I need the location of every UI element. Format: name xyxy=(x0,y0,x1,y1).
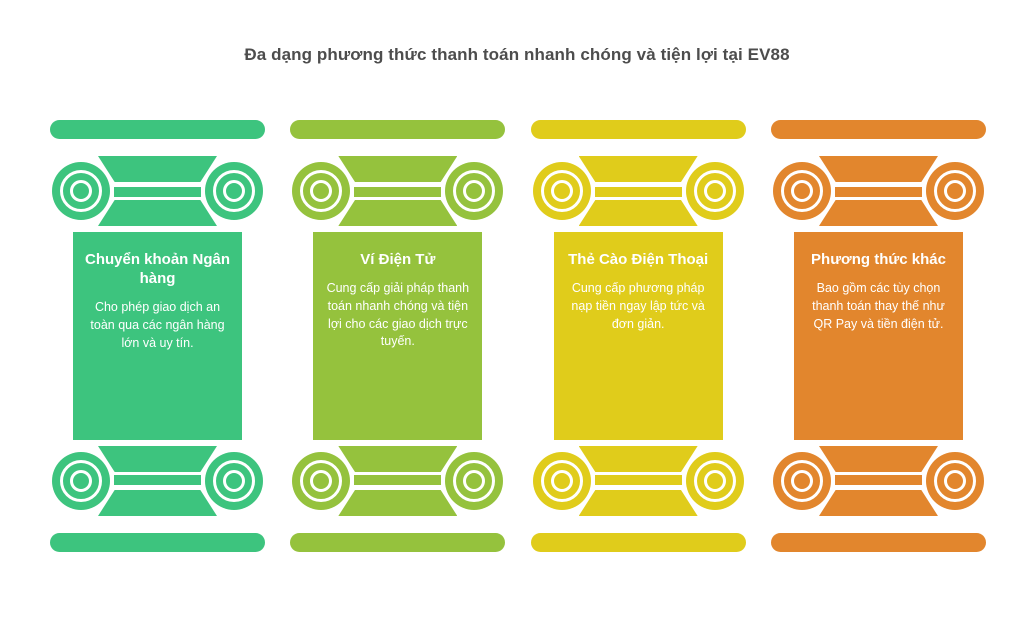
card-title: Chuyển khoản Ngân hàng xyxy=(83,250,232,288)
column-base xyxy=(771,438,986,524)
volute-scroll-icon xyxy=(926,162,984,220)
column-shaft-card[interactable]: Chuyển khoản Ngân hàng Cho phép giao dịc… xyxy=(73,232,242,440)
column-shaft-card[interactable]: Ví Điện Tử Cung cấp giải pháp thanh toán… xyxy=(313,232,482,440)
card-title: Phương thức khác xyxy=(811,250,946,269)
column-capital xyxy=(50,148,265,234)
abacus-top-bar xyxy=(50,120,265,139)
abacus-bottom-bar xyxy=(290,533,505,552)
column-capital xyxy=(771,148,986,234)
echinus-band xyxy=(114,187,201,197)
echinus-lower-flare xyxy=(579,446,698,472)
echinus-lower-flare xyxy=(819,446,938,472)
echinus-lower-flare xyxy=(579,200,698,226)
volute-scroll-icon xyxy=(686,162,744,220)
column-base xyxy=(50,438,265,524)
echinus-band xyxy=(595,475,682,485)
echinus-band xyxy=(835,187,922,197)
pillar-column-3: Thẻ Cào Điện Thoại Cung cấp phương pháp … xyxy=(531,118,746,554)
card-title: Ví Điện Tử xyxy=(360,250,435,269)
echinus-band xyxy=(835,475,922,485)
column-shaft-card[interactable]: Phương thức khác Bao gồm các tùy chọn th… xyxy=(794,232,963,440)
echinus-lower-flare xyxy=(98,446,217,472)
column-shaft-card[interactable]: Thẻ Cào Điện Thoại Cung cấp phương pháp … xyxy=(554,232,723,440)
echinus-lower-flare xyxy=(338,446,457,472)
column-base xyxy=(290,438,505,524)
echinus-upper-flare xyxy=(579,156,698,182)
abacus-bottom-bar xyxy=(771,533,986,552)
abacus-bottom-bar xyxy=(531,533,746,552)
abacus-top-bar xyxy=(290,120,505,139)
echinus-ornament xyxy=(98,156,217,226)
echinus-band xyxy=(114,475,201,485)
volute-scroll-icon xyxy=(205,162,263,220)
pillar-column-2: Ví Điện Tử Cung cấp giải pháp thanh toán… xyxy=(290,118,505,554)
echinus-upper-flare xyxy=(338,156,457,182)
card-description: Cho phép giao dịch an toàn qua các ngân … xyxy=(83,299,232,352)
card-description: Bao gồm các tùy chọn thanh toán thay thế… xyxy=(804,280,953,333)
echinus-ornament xyxy=(579,156,698,226)
echinus-ornament xyxy=(579,446,698,516)
echinus-upper-flare xyxy=(579,490,698,516)
volute-scroll-icon xyxy=(686,452,744,510)
echinus-ornament xyxy=(98,446,217,516)
volute-scroll-icon xyxy=(205,452,263,510)
column-base xyxy=(531,438,746,524)
pillar-column-4: Phương thức khác Bao gồm các tùy chọn th… xyxy=(771,118,986,554)
page-title: Đa dạng phương thức thanh toán nhanh chó… xyxy=(0,45,1034,65)
echinus-ornament xyxy=(338,446,457,516)
echinus-ornament xyxy=(338,156,457,226)
abacus-bottom-bar xyxy=(50,533,265,552)
pillar-column-1: Chuyển khoản Ngân hàng Cho phép giao dịc… xyxy=(50,118,265,554)
echinus-ornament xyxy=(819,446,938,516)
echinus-band xyxy=(354,475,441,485)
card-description: Cung cấp giải pháp thanh toán nhanh chón… xyxy=(323,280,472,351)
volute-scroll-icon xyxy=(445,162,503,220)
echinus-ornament xyxy=(819,156,938,226)
echinus-lower-flare xyxy=(338,200,457,226)
echinus-upper-flare xyxy=(98,156,217,182)
echinus-upper-flare xyxy=(819,490,938,516)
column-capital xyxy=(531,148,746,234)
pillar-columns-row: Chuyển khoản Ngân hàng Cho phép giao dịc… xyxy=(50,118,986,554)
echinus-band xyxy=(595,187,682,197)
echinus-band xyxy=(354,187,441,197)
echinus-upper-flare xyxy=(98,490,217,516)
volute-scroll-icon xyxy=(926,452,984,510)
column-capital xyxy=(290,148,505,234)
volute-scroll-icon xyxy=(445,452,503,510)
card-description: Cung cấp phương pháp nạp tiền ngay lập t… xyxy=(564,280,713,333)
abacus-top-bar xyxy=(531,120,746,139)
abacus-top-bar xyxy=(771,120,986,139)
card-title: Thẻ Cào Điện Thoại xyxy=(568,250,708,269)
echinus-lower-flare xyxy=(98,200,217,226)
echinus-lower-flare xyxy=(819,200,938,226)
echinus-upper-flare xyxy=(338,490,457,516)
echinus-upper-flare xyxy=(819,156,938,182)
